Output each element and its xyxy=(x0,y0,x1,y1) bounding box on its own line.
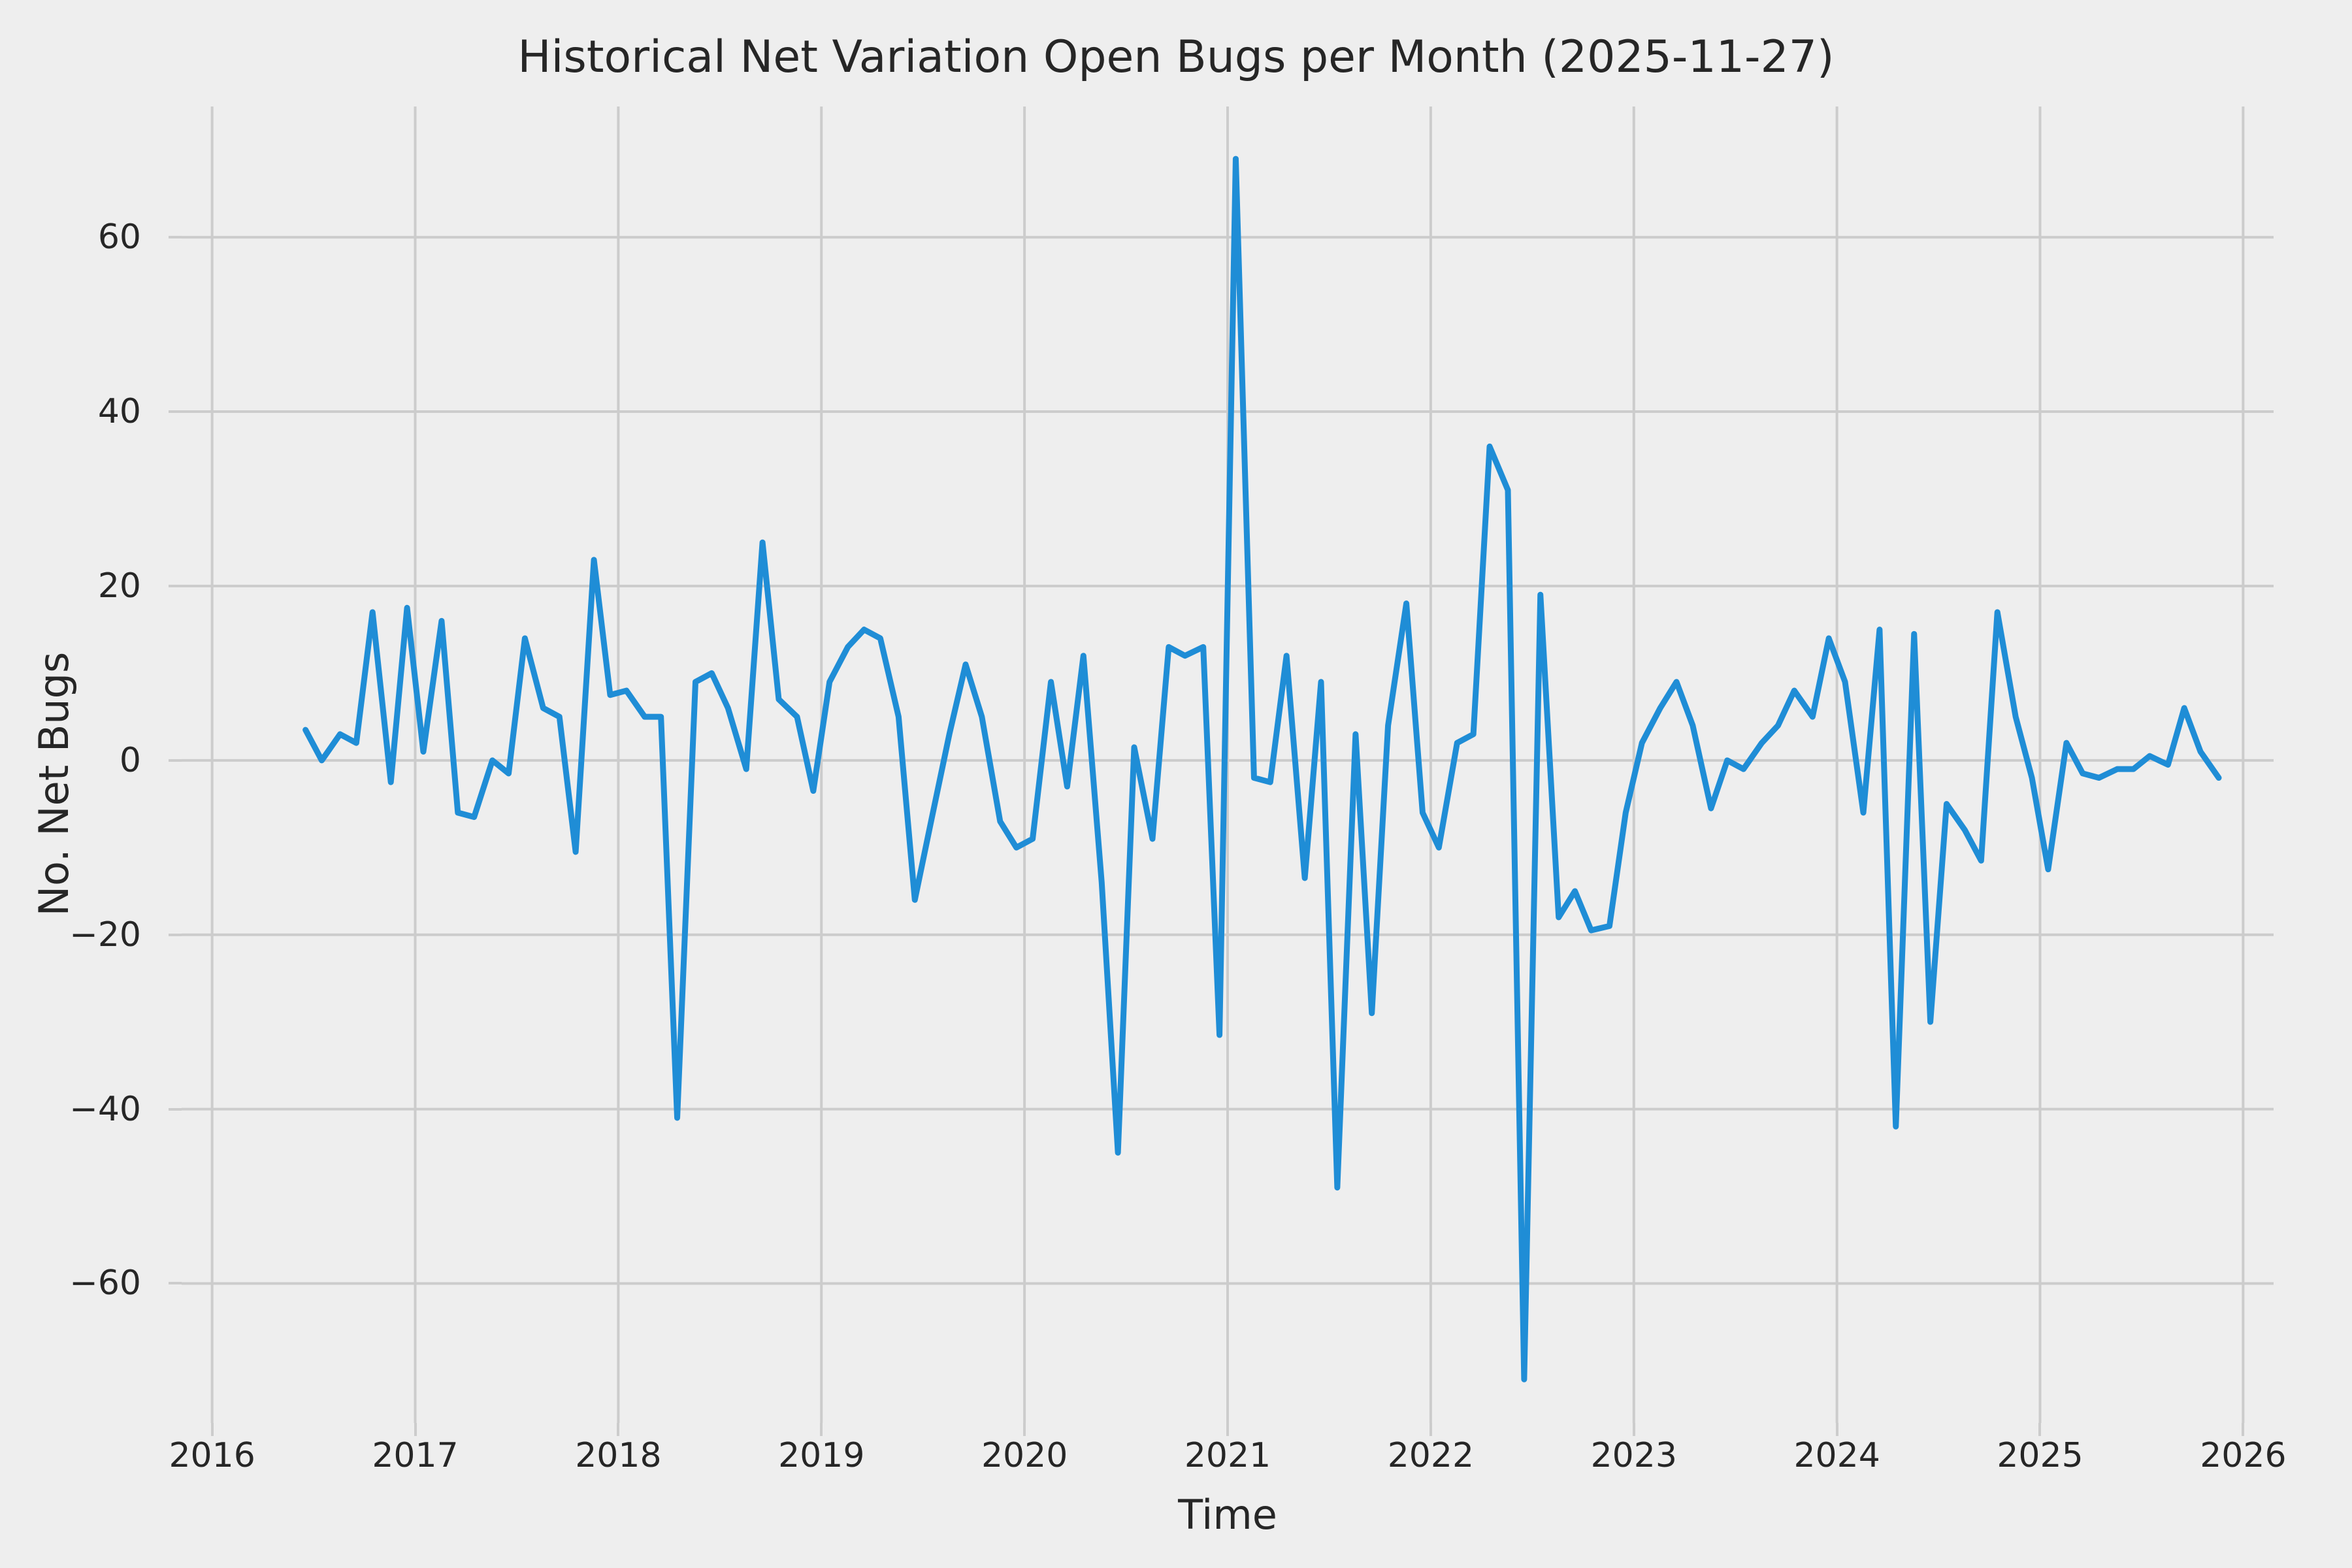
y-tick-mark xyxy=(169,236,182,238)
y-tick-mark xyxy=(169,1108,182,1111)
data-line-0 xyxy=(306,159,2219,1379)
x-tick-mark xyxy=(1226,1423,1229,1436)
x-axis-label: Time xyxy=(182,1491,2274,1539)
x-tick-mark xyxy=(2038,1423,2041,1436)
x-tick-mark xyxy=(1633,1423,1635,1436)
x-tick-mark xyxy=(617,1423,619,1436)
y-tick-label: 20 xyxy=(98,566,141,606)
y-tick-mark xyxy=(169,585,182,587)
chart-title: Historical Net Variation Open Bugs per M… xyxy=(0,31,2352,83)
x-tick-label: 2017 xyxy=(372,1436,458,1475)
x-tick-mark xyxy=(211,1423,214,1436)
y-tick-label: −20 xyxy=(69,915,141,955)
x-tick-mark xyxy=(1429,1423,1432,1436)
x-tick-label: 2024 xyxy=(1793,1436,1880,1475)
y-tick-label: 40 xyxy=(98,392,141,431)
y-tick-mark xyxy=(169,410,182,413)
x-tick-label: 2026 xyxy=(2200,1436,2286,1475)
x-tick-label: 2020 xyxy=(981,1436,1068,1475)
x-tick-label: 2023 xyxy=(1591,1436,1677,1475)
plot-area xyxy=(182,106,2274,1423)
y-tick-label: 0 xyxy=(120,741,141,780)
y-tick-label: −60 xyxy=(69,1264,141,1303)
y-tick-label: −40 xyxy=(69,1090,141,1129)
x-tick-mark xyxy=(820,1423,823,1436)
x-tick-label: 2025 xyxy=(1997,1436,2083,1475)
x-tick-label: 2019 xyxy=(778,1436,864,1475)
x-tick-mark xyxy=(414,1423,417,1436)
x-tick-label: 2016 xyxy=(169,1436,255,1475)
chart-figure: Historical Net Variation Open Bugs per M… xyxy=(0,0,2352,1568)
y-tick-mark xyxy=(169,1282,182,1284)
x-tick-label: 2021 xyxy=(1184,1436,1271,1475)
x-tick-label: 2022 xyxy=(1388,1436,1474,1475)
x-gridlines xyxy=(212,106,2244,1423)
data-series-group xyxy=(306,159,2219,1379)
x-axis-tick-labels: 2016201720182019202020212022202320242025… xyxy=(182,1436,2274,1495)
plot-svg xyxy=(182,106,2274,1423)
x-tick-mark xyxy=(2242,1423,2244,1436)
y-tick-mark xyxy=(169,934,182,936)
y-tick-label: 60 xyxy=(98,218,141,257)
x-tick-label: 2018 xyxy=(575,1436,661,1475)
y-tick-mark xyxy=(169,759,182,762)
x-tick-mark xyxy=(1023,1423,1026,1436)
x-tick-mark xyxy=(1836,1423,1838,1436)
y-axis-tick-labels: 6040200−20−40−60 xyxy=(0,106,169,1423)
